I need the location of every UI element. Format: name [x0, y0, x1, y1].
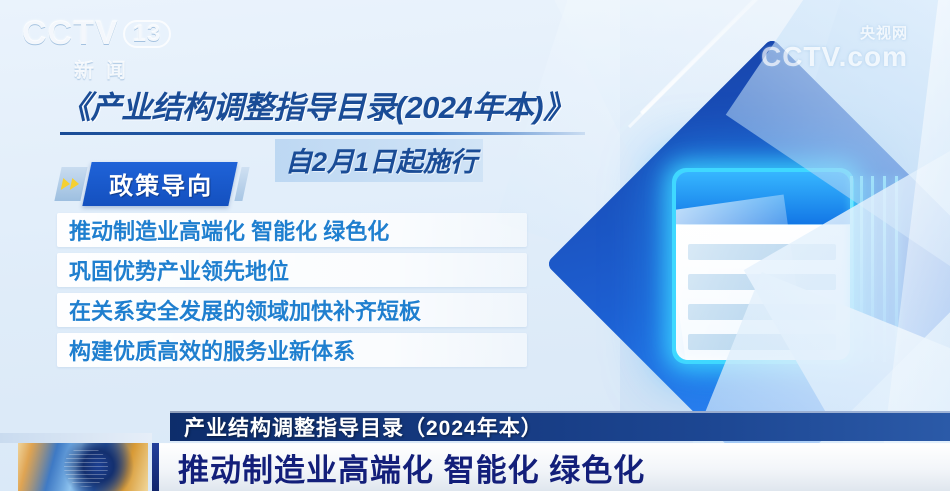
broadcast-frame: CCTV13 新闻 央视网 CCTV.com 《产业结构调整指导目录(2024年…	[0, 0, 950, 491]
subtitle-band: 自2月1日起施行	[275, 139, 483, 182]
cctv-logo-subtitle: 新闻	[74, 54, 232, 83]
watermark-cn-text: 央视网	[761, 22, 908, 43]
list-item: 推动制造业高端化 智能化 绿色化	[57, 213, 527, 247]
headline-subtitle: 自2月1日起施行	[285, 140, 477, 179]
lower-third-headline-bar: 推动制造业高端化 智能化 绿色化	[152, 443, 950, 491]
page-title: 《产业结构调整指导目录(2024年本)》	[60, 82, 620, 127]
lower-third-topic-bar: 产业结构调整指导目录（2024年本）	[170, 411, 950, 441]
watermark-en-text: CCTV.com	[761, 43, 908, 71]
policy-banner-tab: 政策导向	[82, 162, 237, 206]
list-item-text: 巩固优势产业领先地位	[69, 254, 289, 286]
cctv13-logo: CCTV13 新闻	[22, 16, 232, 76]
cctv-wordmark: CCTV13	[22, 16, 232, 50]
cctv-logo-text: CCTV	[22, 14, 119, 52]
double-arrow-icon	[54, 167, 87, 201]
cctv-channel-number: 13	[123, 20, 172, 48]
list-item-text: 在关系安全发展的领域加快补齐短板	[69, 294, 421, 326]
list-item-text: 推动制造业高端化 智能化 绿色化	[69, 214, 389, 246]
list-item: 构建优质高效的服务业新体系	[57, 333, 527, 367]
lower-third-headline-text: 推动制造业高端化 智能化 绿色化	[178, 445, 645, 490]
list-item-text: 构建优质高效的服务业新体系	[69, 334, 355, 366]
cctv-com-watermark: 央视网 CCTV.com	[761, 22, 908, 71]
list-item: 在关系安全发展的领域加快补齐短板	[57, 293, 527, 327]
list-item: 巩固优势产业领先地位	[57, 253, 527, 287]
policy-banner-label: 政策导向	[109, 166, 213, 201]
lower-third-accent-bar	[152, 443, 159, 491]
title-divider	[60, 132, 585, 135]
lower-third-top-strip	[0, 433, 152, 443]
policy-banner: 政策导向	[58, 162, 246, 206]
policy-points-list: 推动制造业高端化 智能化 绿色化 巩固优势产业领先地位 在关系安全发展的领域加快…	[57, 213, 527, 373]
globe-light-sweep	[18, 443, 148, 491]
news-globe-bug	[18, 443, 148, 491]
lower-third-topic-text: 产业结构调整指导目录（2024年本）	[184, 412, 543, 442]
